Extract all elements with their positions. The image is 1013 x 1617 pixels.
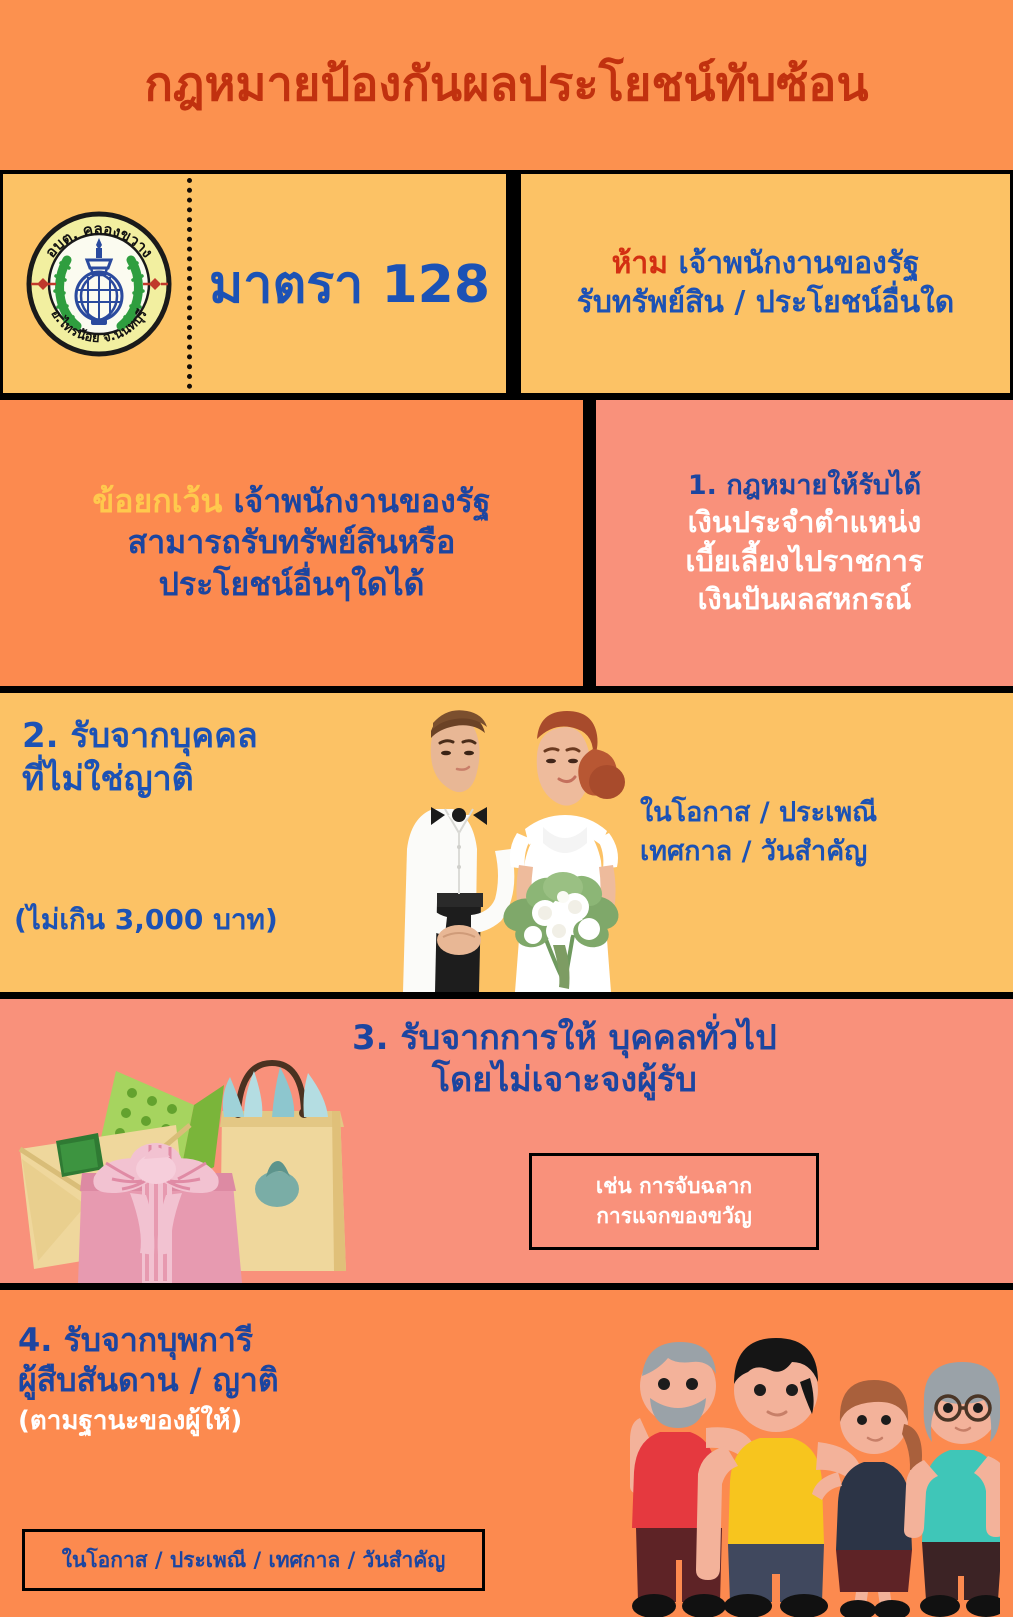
item2-heading-line-1: 2. รับจากบุคคล [22,715,258,758]
page-title: กฎหมายป้องกันผลประโยชน์ทับซ้อน [144,59,868,111]
item2-occasion: ในโอกาส / ประเพณี เทศกาล / วันสำคัญ [640,793,877,871]
item3-heading-line-2: โดยไม่เจาะจงผู้รับ [352,1059,777,1101]
prohibition-line-2: รับทรัพย์สิน / ประโยชน์อื่นใด [577,284,955,322]
prohibition-keyword: ห้าม [612,246,668,281]
exception-panel: ข้อยกเว้น เจ้าพนักงานของรัฐ สามารถรับทรั… [0,400,583,686]
item2-heading: 2. รับจากบุคคล ที่ไม่ใช่ญาติ [22,715,258,800]
item4-occasion-text: ในโอกาส / ประเพณี / เทศกาล / วันสำคัญ [62,1544,446,1577]
item4-occasion-box: ในโอกาส / ประเพณี / เทศกาล / วันสำคัญ [22,1529,485,1591]
item4-heading-line-2: ผู้สืบสันดาน / ญาติ [18,1360,279,1400]
item3-heading: 3. รับจากการให้ บุคคลทั่วไป โดยไม่เจาะจง… [352,1017,777,1101]
municipal-seal-icon: อบต. คลองขวาง อ.ไทรน้อย จ.นนทบุรี [25,198,173,370]
item3-example-line-1: เช่น การจับฉลาก [596,1172,752,1201]
item1-heading: 1. กฎหมายให้รับได้ [688,468,921,504]
exception-keyword: ข้อยกเว้น [92,482,222,520]
item1-line-3: เงินปันผลสหกรณ์ [698,580,912,618]
exception-subject: เจ้าพนักงานของรัฐ [234,482,491,520]
item2-amount-limit: (ไม่เกิน 3,000 บาท) [14,898,278,942]
wedding-couple-illustration [393,697,643,992]
section-item2: 2. รับจากบุคคล ที่ไม่ใช่ญาติ (ไม่เกิน 3,… [0,693,1013,992]
infographic-poster: กฎหมายป้องกันผลประโยชน์ทับซ้อน [0,0,1013,1617]
law-reference-left-panel: อบต. คลองขวาง อ.ไทรน้อย จ.นนทบุรี มาตรา … [3,174,506,393]
exception-line-2: สามารถรับทรัพย์สินหรือ [128,522,456,564]
item1-line-1: เงินประจำตำแหน่ง [688,503,922,541]
item2-occasion-line-1: ในโอกาส / ประเพณี [640,793,877,832]
item1-line-2: เบี้ยเลี้ยงไปราชการ [685,542,923,580]
section-law-reference: อบต. คลองขวาง อ.ไทรน้อย จ.นนทบุรี มาตรา … [0,174,1013,393]
item1-panel: 1. กฎหมายให้รับได้ เงินประจำตำแหน่ง เบี้… [596,400,1013,686]
prohibition-line-1: ห้าม เจ้าพนักงานของรัฐ [612,245,920,283]
item4-heading: 4. รับจากบุพการี ผู้สืบสันดาน / ญาติ (ตา… [18,1320,279,1437]
item2-occasion-line-2: เทศกาล / วันสำคัญ [640,832,877,871]
item4-note: (ตามฐานะของผู้ให้) [18,1405,279,1438]
prohibition-subject: เจ้าพนักงานของรัฐ [678,246,919,281]
item4-heading-line-1: 4. รับจากบุพการี [18,1320,279,1360]
item3-example-line-2: การแจกของขวัญ [596,1202,752,1231]
exception-line-3: ประโยชน์อื่นๆใดได้ [159,564,425,606]
law-section-number: มาตรา 128 [193,174,506,393]
section-item3: 3. รับจากการให้ บุคคลทั่วไป โดยไม่เจาะจง… [0,999,1013,1283]
section-exception: ข้อยกเว้น เจ้าพนักงานของรัฐ สามารถรับทรั… [0,400,1013,686]
item3-example-box: เช่น การจับฉลาก การแจกของขวัญ [529,1153,819,1250]
gift-boxes-illustration [4,1011,354,1283]
poster-header: กฎหมายป้องกันผลประโยชน์ทับซ้อน [0,0,1013,170]
item3-heading-line-1: 3. รับจากการให้ บุคคลทั่วไป [352,1017,777,1059]
family-group-illustration [620,1310,1000,1617]
item2-heading-line-2: ที่ไม่ใช่ญาติ [22,758,258,801]
prohibition-panel: ห้าม เจ้าพนักงานของรัฐ รับทรัพย์สิน / ปร… [521,174,1010,393]
dotted-divider [187,178,192,389]
exception-line-1: ข้อยกเว้น เจ้าพนักงานของรัฐ [92,481,490,523]
